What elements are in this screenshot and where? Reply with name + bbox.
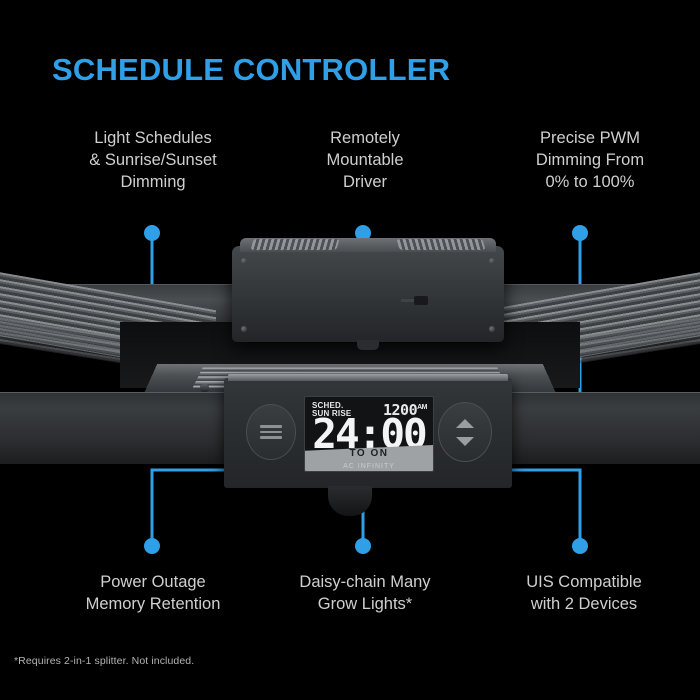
- callout-daisy-chain: Daisy-chain Many Grow Lights*: [262, 572, 468, 616]
- footnote: *Requires 2-in-1 splitter. Not included.: [14, 655, 194, 667]
- lcd-status-text: TO ON: [305, 448, 433, 459]
- callout-line: Grow Lights*: [262, 594, 468, 616]
- callout-remotely-mountable-driver: Remotely Mountable Driver: [272, 128, 458, 194]
- callout-line: Light Schedules: [38, 128, 268, 150]
- callout-line: Daisy-chain Many: [262, 572, 468, 594]
- driver-vent-right: [396, 239, 485, 250]
- callout-line: 0% to 100%: [482, 172, 698, 194]
- callout-line: Remotely: [272, 128, 458, 150]
- callout-line: & Sunrise/Sunset: [38, 150, 268, 172]
- product-image: SCHED. SUN RISE 1200AM 24:00 TO ON AC IN…: [0, 238, 700, 538]
- driver-vent-left: [250, 239, 339, 250]
- driver-module: [232, 246, 504, 342]
- driver-foot: [357, 340, 379, 350]
- callout-power-outage-memory: Power Outage Memory Retention: [36, 572, 270, 616]
- controller-faceplate: SCHED. SUN RISE 1200AM 24:00 TO ON AC IN…: [224, 378, 512, 488]
- callout-line: Dimming: [38, 172, 268, 194]
- callout-line: UIS Compatible: [470, 572, 698, 594]
- driver-screw: [489, 326, 495, 332]
- callout-line: Dimming From: [482, 150, 698, 172]
- driver-port: [414, 296, 428, 305]
- callout-line: Precise PWM: [482, 128, 698, 150]
- callout-line: Mountable: [272, 150, 458, 172]
- callout-line: Power Outage: [36, 572, 270, 594]
- hamburger-icon: [260, 422, 282, 442]
- lcd-display: SCHED. SUN RISE 1200AM 24:00 TO ON AC IN…: [304, 396, 434, 472]
- callout-line: Driver: [272, 172, 458, 194]
- callout-line: with 2 Devices: [470, 594, 698, 616]
- driver-screw: [489, 258, 495, 264]
- driver-screw: [241, 258, 247, 264]
- lcd-brand-label: AC INFINITY: [305, 463, 433, 470]
- callout-line: Memory Retention: [36, 594, 270, 616]
- page-title: SCHEDULE CONTROLLER: [52, 52, 450, 88]
- callout-uis-compatible: UIS Compatible with 2 Devices: [470, 572, 698, 616]
- callout-pwm-dimming: Precise PWM Dimming From 0% to 100%: [482, 128, 698, 194]
- arrow-up-icon[interactable]: [456, 419, 474, 428]
- driver-screw: [241, 326, 247, 332]
- updown-button-pad[interactable]: [438, 402, 492, 462]
- arrow-down-icon[interactable]: [456, 437, 474, 446]
- callout-light-schedules: Light Schedules & Sunrise/Sunset Dimming: [38, 128, 268, 194]
- power-cable-plug: [328, 486, 372, 516]
- menu-button[interactable]: [246, 404, 296, 460]
